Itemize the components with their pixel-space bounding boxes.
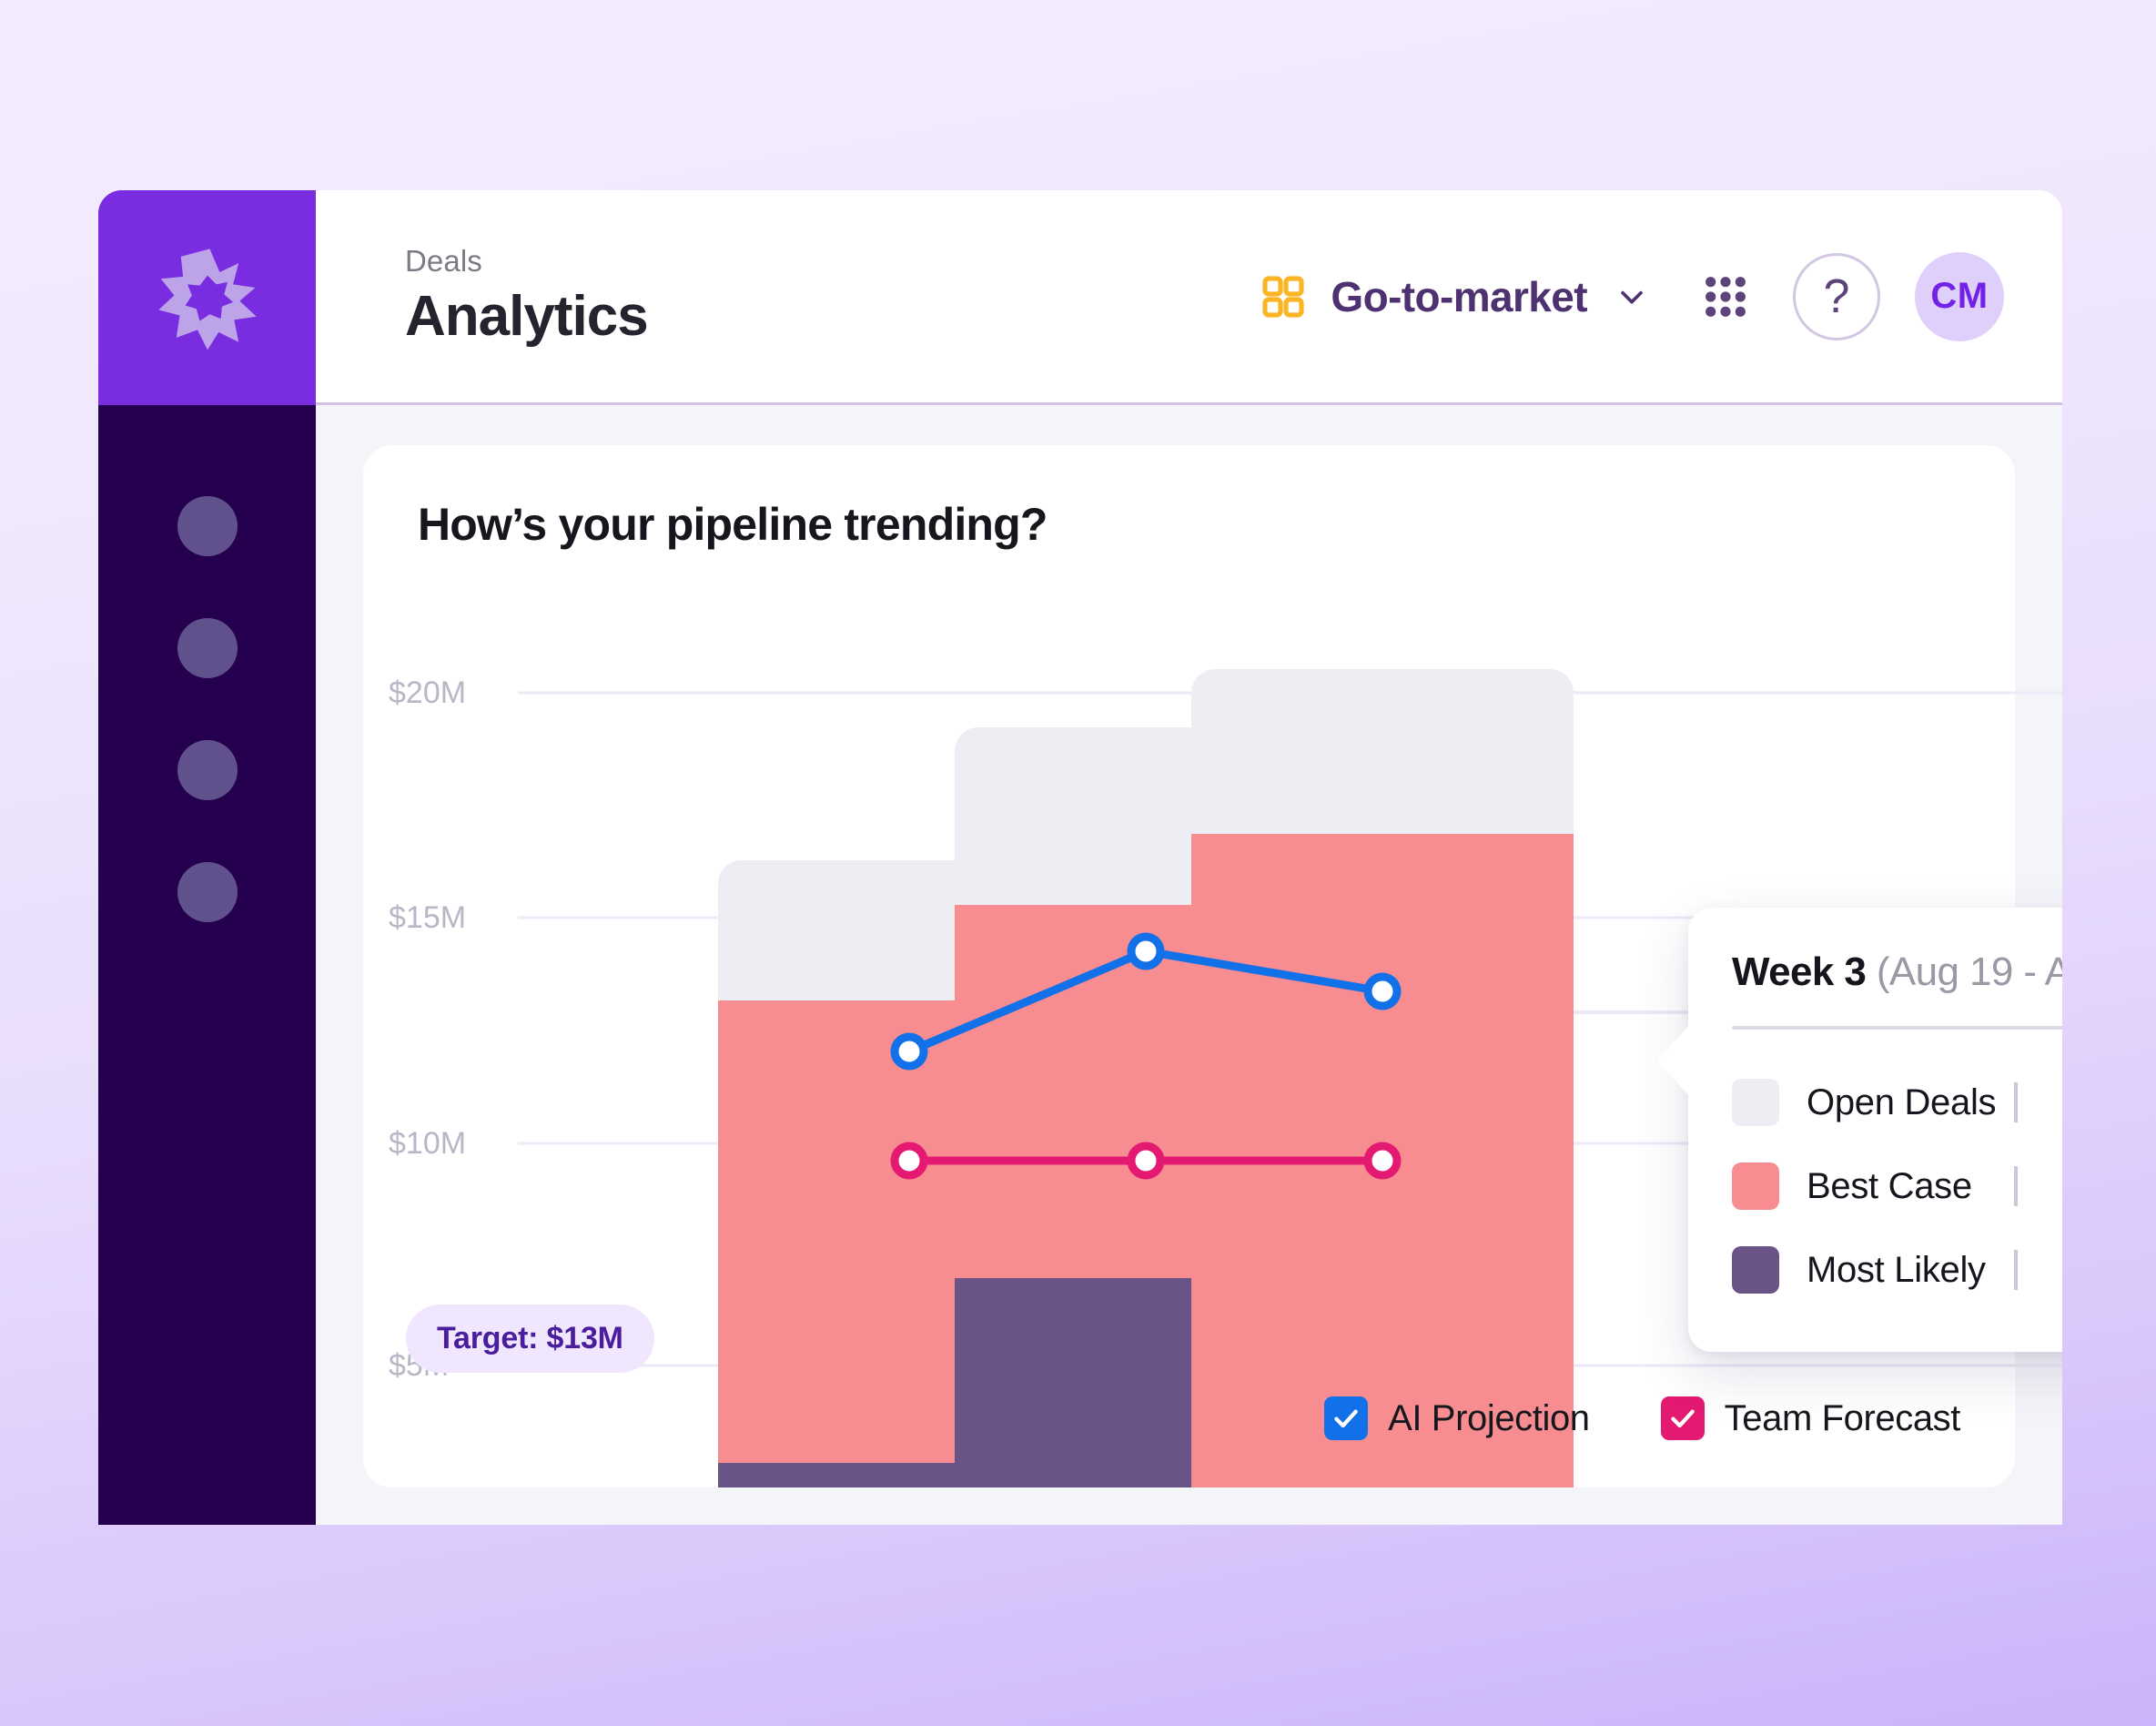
ai-projection-point-week-1[interactable] — [895, 1037, 924, 1066]
swatch-most-likely — [1732, 1246, 1779, 1294]
tooltip-date-range: (Aug 19 - Aug 26) — [1877, 949, 2062, 994]
tooltip-arrow — [1657, 1024, 1690, 1097]
team-forecast-point-week-1[interactable] — [895, 1146, 924, 1175]
page-frame: Deals Analytics Go-to-m — [0, 0, 2156, 1726]
ai-projection-series[interactable] — [895, 937, 1397, 1066]
ytick-label-10m: $10M — [389, 1126, 466, 1161]
four-square-grid-icon — [1261, 275, 1305, 319]
checkbox-checked-icon[interactable] — [1661, 1396, 1705, 1440]
legend-item-team-forecast[interactable]: Team Forecast — [1661, 1396, 1960, 1440]
chart-title: How’s your pipeline trending? — [418, 498, 1960, 551]
tooltip-week-label: Week 3 — [1732, 949, 1866, 994]
tooltip-value-most-likely: $1,658,00 — [2018, 1250, 2062, 1291]
tooltip-row-most-likely: Most Likely $1,658,00 — [1732, 1228, 2062, 1312]
app-header: Deals Analytics Go-to-m — [316, 190, 2062, 405]
swatch-best-case — [1732, 1163, 1779, 1210]
tooltip-value-best-case: $2,330,200 — [2018, 1166, 2062, 1207]
bar-open-week-3 — [1191, 669, 1574, 834]
main-region: Deals Analytics Go-to-m — [316, 190, 2062, 1525]
target-badge: Target: $13M — [406, 1305, 654, 1373]
sidebar-item-4[interactable] — [177, 862, 238, 922]
bar-group-week-3[interactable] — [1191, 669, 1574, 1487]
content-canvas: How’s your pipeline trending? $20M $15M — [316, 405, 2062, 1525]
swatch-open-deals — [1732, 1079, 1779, 1126]
page-title: Analytics — [405, 284, 648, 349]
bar-best-week-3 — [1191, 834, 1574, 1487]
bar-open-week-1 — [718, 860, 1100, 1000]
legend-item-ai-projection[interactable]: AI Projection — [1324, 1396, 1590, 1440]
bar-group-week-2[interactable] — [955, 727, 1337, 1487]
tooltip-label-open-deals: Open Deals — [1807, 1082, 1996, 1123]
tooltip-divider — [1732, 1026, 2062, 1030]
workspace-switcher[interactable]: Go-to-market — [1261, 272, 1647, 321]
tooltip-title: Week 3 (Aug 19 - Aug 26) — [1732, 949, 2062, 995]
tooltip-label-most-likely: Most Likely — [1807, 1250, 1986, 1291]
sidebar-nav-list — [177, 496, 238, 922]
bar-likely-week-1 — [718, 1463, 1100, 1487]
checkbox-checked-icon[interactable] — [1324, 1396, 1368, 1440]
ai-projection-point-week-2[interactable] — [1131, 937, 1160, 966]
tooltip-value-open-deals: $1,925,800 — [2018, 1082, 2062, 1123]
ai-projection-point-week-3[interactable] — [1368, 977, 1397, 1006]
chevron-down-icon — [1616, 281, 1647, 312]
bar-best-week-2 — [955, 905, 1337, 1278]
team-forecast-point-week-3[interactable] — [1368, 1146, 1397, 1175]
sidebar — [98, 190, 316, 1525]
bar-open-week-2 — [955, 727, 1337, 905]
header-actions: Go-to-market — [1261, 252, 2004, 341]
bar-best-week-1 — [718, 1000, 1100, 1463]
team-forecast-point-week-2[interactable] — [1131, 1146, 1160, 1175]
breadcrumb[interactable]: Deals — [405, 244, 648, 279]
sidebar-item-2[interactable] — [177, 618, 238, 678]
sidebar-item-3[interactable] — [177, 740, 238, 800]
help-button[interactable]: ? — [1793, 253, 1880, 340]
legend-label-team-forecast: Team Forecast — [1725, 1398, 1960, 1439]
team-forecast-series[interactable] — [895, 1146, 1397, 1175]
avatar[interactable]: CM — [1915, 252, 2004, 341]
ytick-label-20m: $20M — [389, 675, 466, 710]
legend-label-ai-projection: AI Projection — [1388, 1398, 1590, 1439]
ai-projection-line — [909, 951, 1382, 1051]
nine-dot-grid-icon[interactable] — [1700, 271, 1751, 322]
tooltip-label-best-case: Best Case — [1807, 1166, 1972, 1207]
workspace-label: Go-to-market — [1331, 272, 1587, 321]
chart-tooltip: Week 3 (Aug 19 - Aug 26) Open Deals $1,9… — [1688, 908, 2062, 1352]
bar-likely-week-2 — [955, 1278, 1337, 1487]
app-logo[interactable] — [98, 190, 316, 405]
tooltip-row-best-case: Best Case $2,330,200 — [1732, 1144, 2062, 1228]
sidebar-item-1[interactable] — [177, 496, 238, 556]
header-titles: Deals Analytics — [405, 244, 648, 349]
app-window: Deals Analytics Go-to-m — [98, 190, 2062, 1525]
ytick-label-15m: $15M — [389, 900, 466, 935]
chart-legend: AI Projection Team Forecast — [1324, 1396, 1960, 1440]
bar-group-week-1[interactable] — [718, 860, 1100, 1487]
tooltip-row-open-deals: Open Deals $1,925,800 — [1732, 1061, 2062, 1144]
burst-star-icon — [152, 242, 263, 353]
